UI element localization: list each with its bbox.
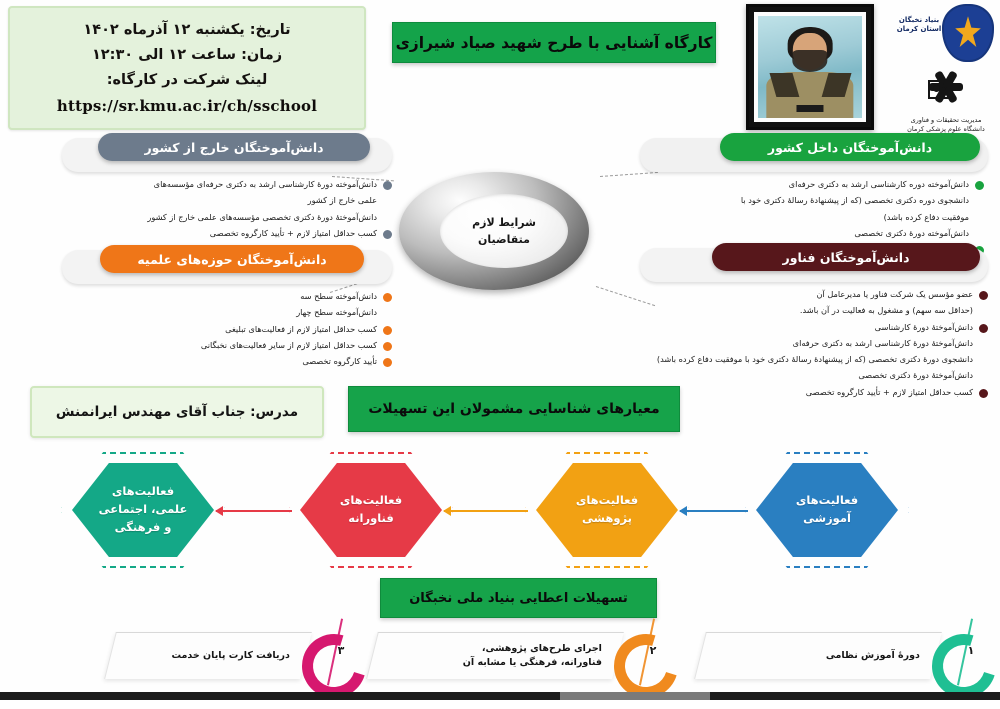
panel-title-domestic: دانش‌آموختگان داخل کشور [768, 140, 932, 155]
panel-bullet-item: دانش‌آموختهٔ دورهٔ دکتری تخصصی [640, 369, 988, 381]
connector-hub-domestic [600, 172, 658, 177]
hexagon-educational[interactable]: فعالیت‌هایآموزشی [744, 452, 910, 568]
panel-bullet-item: علمی خارج از کشور [62, 194, 392, 206]
hub-center-label: شرایط لازم متقاضیان [440, 194, 568, 268]
criteria-banner: معیارهای شناسایی مشمولان این تسهیلات [348, 386, 680, 432]
panel-title-pill-technologist: دانش‌آموختگان فناور [712, 243, 980, 271]
step-bar: دریافت کارت پایان خدمت [104, 632, 312, 679]
panel-bullet-item: کسب حداقل امتیاز لازم از فعالیت‌های تبلی… [62, 323, 392, 335]
hexagon-label: فعالیت‌هایپژوهشی [570, 492, 644, 528]
hub-line-2: متقاضیان [478, 231, 530, 248]
panel-bullet-item: دانش‌آموختهٔ دورهٔ کارشناسی [640, 321, 988, 333]
panel-bullet-item: کسب حداقل امتیاز لازم از سایر فعالیت‌های… [62, 339, 392, 351]
workshop-title-text: کارگاه آشنایی با طرح شهید صیاد شیرازی [396, 34, 713, 52]
panel-bullet-text: دانشجوی دوره دکتری تخصصی (که از پیشنهاده… [741, 194, 969, 206]
panel-bullet-text: تأیید کارگروه تخصصی [302, 355, 377, 367]
martyr-portrait-image [758, 16, 862, 118]
bullet-dot-icon [383, 181, 392, 190]
panel-bullet-text: علمی خارج از کشور [308, 194, 377, 206]
step-bar: اجرای طرح‌های پژوهشی،فناورانه، فرهنگی یا… [366, 632, 624, 679]
bullet-dot-icon [383, 342, 392, 351]
panel-bullet-item: دانش‌آموخته دوره کارشناسی ارشد به دکتری … [640, 178, 984, 190]
foundation-logo-caption: بنیاد نخبگان استان کرمان [894, 16, 944, 34]
martyr-portrait-frame [746, 4, 874, 130]
bullet-dot-icon [383, 230, 392, 239]
event-url-link[interactable]: https://sr.kmu.ac.ir/ch/sschool [57, 97, 317, 115]
hexagon-flow-arrow [444, 510, 528, 512]
event-time: زمان: ساعت ۱۲ الی ۱۲:۳۰ [92, 47, 282, 63]
panel-bullet-item: دانشجوی دورهٔ دکتری تخصصی (که از پیشنهاد… [640, 353, 988, 365]
panel-bullet-text: دانش‌آموختهٔ دورهٔ دکتری تخصصی [858, 369, 973, 381]
panel-title-seminary: دانش‌آموختگان حوزه‌های علمیه [137, 252, 326, 267]
panel-bullet-text: کسب حداقل امتیاز لازم از سایر فعالیت‌های… [201, 339, 377, 351]
panel-bullet-item: دانش‌آموخته دورهٔ کارشناسی ارشد به دکتری… [62, 178, 392, 190]
panel-bullet-text: دانش‌آموختهٔ دورهٔ کارشناسی [875, 321, 973, 333]
step-label: دریافت کارت پایان خدمت [111, 649, 300, 663]
panel-bullet-item: دانش‌آموخته سطح سه [62, 290, 392, 302]
hexagon-flow-arrow [216, 510, 292, 512]
event-info-card: تاریخ: یکشنبه ۱۲ آذرماه ۱۴۰۲ زمان: ساعت … [8, 6, 366, 130]
hexagon-flow-arrow [680, 510, 748, 512]
step-hook-marker: ۱ [932, 630, 984, 680]
panel-bullet-text: دانش‌آموخته دورهٔ کارشناسی ارشد به دکتری… [154, 178, 377, 190]
bullet-dot-icon [975, 181, 984, 190]
bullet-dot-icon [383, 293, 392, 302]
panel-bullet-item: موفقیت دفاع کرده باشد) [640, 211, 984, 223]
facilities-banner-text: تسهیلات اعطایی بنیاد ملی نخبگان [409, 591, 628, 606]
panel-bullet-item: دانش‌آموختهٔ دورهٔ کارشناسی ارشد به دکتر… [640, 337, 988, 349]
university-logo: مدیریت تحقیقات و فناوری دانشگاه علوم پزش… [900, 62, 992, 134]
panel-bullet-item: عضو مؤسس یک شرکت فناور یا مدیرعامل آن [640, 288, 988, 300]
bullet-dot-icon [383, 358, 392, 367]
hexagon-technology[interactable]: فعالیت‌هایفناورانه [288, 452, 454, 568]
panel-title-pill-seminary: دانش‌آموختگان حوزه‌های علمیه [100, 245, 364, 273]
panel-bullet-text: دانش‌آموختهٔ دورهٔ کارشناسی ارشد به دکتر… [793, 337, 973, 349]
service-step-۲: اجرای طرح‌های پژوهشی،فناورانه، فرهنگی یا… [372, 632, 672, 678]
hexagon-research[interactable]: فعالیت‌هایپژوهشی [524, 452, 690, 568]
hexagon-label: فعالیت‌هایعلمی، اجتماعیو فرهنگی [93, 483, 194, 536]
panel-bullet-text: دانش‌آموخته دوره کارشناسی ارشد به دکتری … [789, 178, 969, 190]
panel-title-technologist: دانش‌آموختگان فناور [783, 250, 910, 265]
panel-bullet-item: دانش‌آموخته سطح چهار [62, 306, 392, 318]
panel-bullet-text: موفقیت دفاع کرده باشد) [884, 211, 969, 223]
panel-bullet-item: (حداقل سه سهم) و مشغول به فعالیت در آن ب… [640, 304, 988, 316]
bullet-dot-icon [383, 326, 392, 335]
panel-bullet-text: کسب حداقل امتیاز لازم از فعالیت‌های تبلی… [225, 323, 377, 335]
panel-title-abroad: دانش‌آموختگان خارج از کشور [144, 140, 323, 155]
event-date: تاریخ: یکشنبه ۱۲ آذرماه ۱۴۰۲ [83, 22, 290, 38]
event-link-label: لینک شرکت در کارگاه: [107, 72, 268, 88]
panel-items-abroad: دانش‌آموخته دورهٔ کارشناسی ارشد به دکتری… [62, 178, 392, 243]
panel-bullet-item: کسب حداقل امتیاز لازم + تأیید کارگروه تخ… [62, 227, 392, 239]
panel-bullet-text: دانش‌آموخته دورهٔ دکتری تخصصی [854, 227, 969, 239]
panel-bullet-text: دانش‌آموخته سطح سه [300, 290, 377, 302]
step-bar: دورهٔ آموزش نظامی [694, 632, 942, 679]
elite-foundation-logo: بنیاد نخبگان استان کرمان [892, 2, 996, 62]
hexagon-cultural[interactable]: فعالیت‌هایعلمی، اجتماعیو فرهنگی [60, 452, 226, 568]
criteria-banner-text: معیارهای شناسایی مشمولان این تسهیلات [368, 401, 659, 417]
panel-bullet-text: دانش‌آموخته سطح چهار [296, 306, 377, 318]
service-step-۱: دورهٔ آموزش نظامی۱ [700, 632, 990, 678]
portrait-mat [754, 12, 866, 122]
panel-bullet-item: دانش‌آموخته دورهٔ دکتری تخصصی [640, 227, 984, 239]
lecturer-box: مدرس: جناب آقای مهندس ایرانمنش [30, 386, 324, 438]
panel-bullet-text: دانش‌آموختهٔ دورهٔ دکتری تخصصی مؤسسه‌های… [147, 211, 377, 223]
bottom-color-strip [0, 692, 1000, 700]
university-emblem-icon [925, 64, 967, 102]
panel-bullet-item: تأیید کارگروه تخصصی [62, 355, 392, 367]
panel-items-technologist: عضو مؤسس یک شرکت فناور یا مدیرعامل آن(حد… [640, 288, 988, 402]
workshop-title-banner: کارگاه آشنایی با طرح شهید صیاد شیرازی [392, 22, 716, 63]
bullet-dot-icon [979, 291, 988, 300]
hexagon-label: فعالیت‌هایفناورانه [334, 492, 408, 528]
hexagon-label: فعالیت‌هایآموزشی [790, 492, 864, 528]
panel-bullet-item: کسب حداقل امتیاز لازم + تأیید کارگروه تخ… [640, 386, 988, 398]
step-hook-marker: ۲ [614, 630, 666, 680]
panel-bullet-text: دانشجوی دورهٔ دکتری تخصصی (که از پیشنهاد… [657, 353, 973, 365]
university-logo-caption: مدیریت تحقیقات و فناوری دانشگاه علوم پزش… [900, 116, 992, 134]
step-number: ۱ [960, 644, 982, 657]
hub-line-1: شرایط لازم [472, 214, 536, 231]
bullet-dot-icon [979, 389, 988, 398]
panel-bullet-item: دانش‌آموختهٔ دورهٔ دکتری تخصصی مؤسسه‌های… [62, 211, 392, 223]
panel-items-seminary: دانش‌آموخته سطح سهدانش‌آموخته سطح چهارکس… [62, 290, 392, 371]
step-number: ۲ [642, 644, 664, 657]
step-label: اجرای طرح‌های پژوهشی،فناورانه، فرهنگی یا… [373, 642, 612, 670]
service-step-۳: دریافت کارت پایان خدمت۳ [110, 632, 360, 678]
lecturer-name: مدرس: جناب آقای مهندس ایرانمنش [56, 404, 298, 420]
bullet-dot-icon [979, 324, 988, 333]
panel-bullet-text: عضو مؤسس یک شرکت فناور یا مدیرعامل آن [816, 288, 973, 300]
panel-bullet-text: کسب حداقل امتیاز لازم + تأیید کارگروه تخ… [210, 227, 377, 239]
panel-bullet-item: دانشجوی دوره دکتری تخصصی (که از پیشنهاده… [640, 194, 984, 206]
step-label: دورهٔ آموزش نظامی [701, 649, 930, 663]
panel-title-pill-domestic: دانش‌آموختگان داخل کشور [720, 133, 980, 161]
panel-bullet-text: کسب حداقل امتیاز لازم + تأیید کارگروه تخ… [806, 386, 973, 398]
panel-title-pill-abroad: دانش‌آموختگان خارج از کشور [98, 133, 370, 161]
foundation-shield-icon [942, 4, 994, 62]
facilities-banner: تسهیلات اعطایی بنیاد ملی نخبگان [380, 578, 657, 618]
poster-canvas: تاریخ: یکشنبه ۱۲ آذرماه ۱۴۰۲ زمان: ساعت … [0, 0, 1000, 700]
step-hook-marker: ۳ [302, 630, 354, 680]
panel-bullet-text: (حداقل سه سهم) و مشغول به فعالیت در آن ب… [800, 304, 973, 316]
step-number: ۳ [330, 644, 352, 657]
